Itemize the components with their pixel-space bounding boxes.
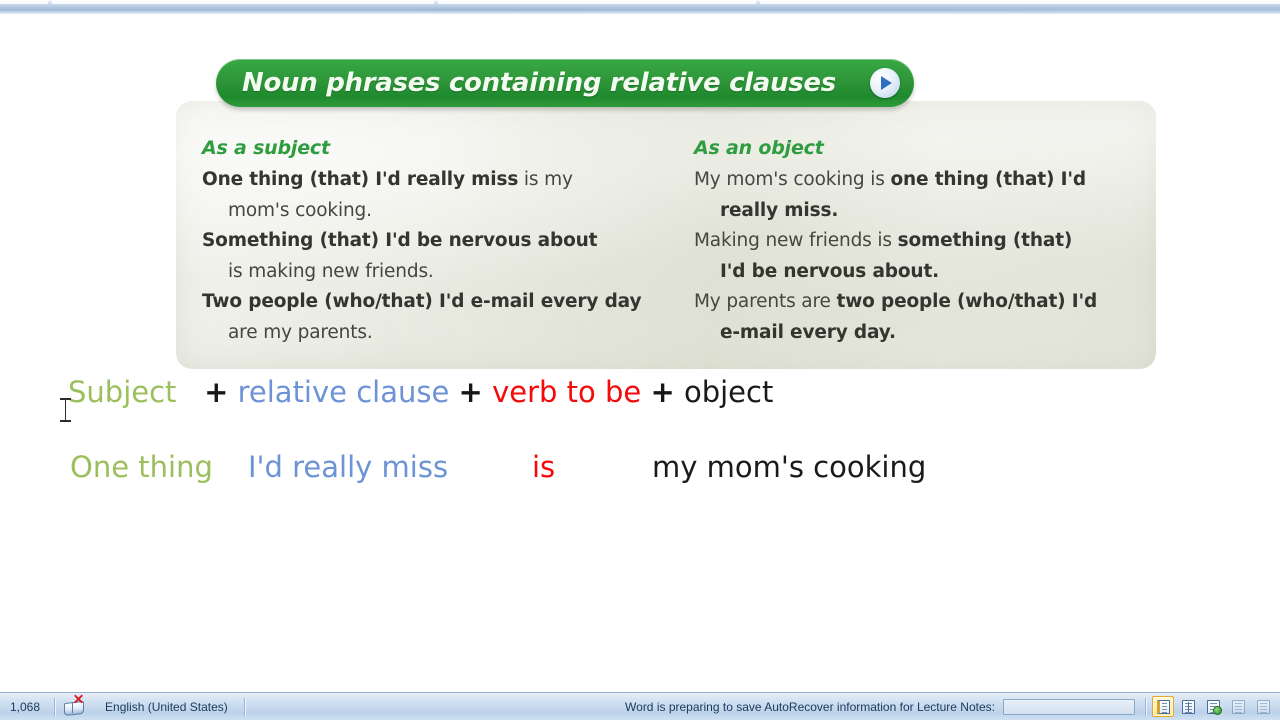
figure-line: Two people (who/that) I'd e-mail every d… [202,287,672,318]
book-spine-icon [72,701,73,712]
status-separator [1145,698,1146,716]
formula-line[interactable]: Subject + relative clause + verb to be +… [68,372,773,412]
figure-line-plain: My parents are [694,291,837,312]
print-layout-view-button[interactable] [1152,696,1174,717]
figure-line-bold: e-mail every day. [720,322,896,343]
formula-plus-3: + [650,375,674,409]
figure-line-bold: I'd be nervous about. [720,261,939,282]
figure-line: My mom's cooking is one thing (that) I'd [694,165,1156,196]
outline-view-button[interactable] [1227,696,1249,717]
print-layout-icon [1157,700,1170,714]
toolbar-strip [0,0,1280,14]
toolbar-seam [438,0,756,4]
play-triangle-icon [881,76,892,90]
status-separator [244,698,245,716]
web-layout-view-button[interactable] [1202,696,1224,717]
view-buttons-group [1148,696,1280,717]
formula-plus-1: + [204,375,228,409]
formula-subject: Subject [68,375,176,409]
autorecover-status-message: Word is preparing to save AutoRecover in… [625,700,1003,714]
toolbar-underline [0,9,1280,11]
figure-line: One thing (that) I'd really miss is my [202,165,672,196]
figure-line-bold: something (that) [898,230,1073,251]
figure-line: mom's cooking. [202,196,672,227]
document-canvas[interactable]: Noun phrases containing relative clauses… [0,14,1280,692]
figure-title-banner: Noun phrases containing relative clauses [216,59,914,107]
figure-line-bold: one thing (that) I'd [890,169,1086,190]
figure-line: is making new friends. [202,257,672,288]
figure-line: Something (that) I'd be nervous about [202,226,672,257]
figure-line: I'd be nervous about. [694,257,1156,288]
figure-column-subject: As a subject One thing (that) I'd really… [202,137,672,348]
toolbar-seam [0,0,48,4]
play-circle-icon [870,68,900,98]
figure-line-plain: mom's cooking. [228,200,372,221]
figure-line-plain: My mom's cooking is [694,169,890,190]
status-bar: 1,068 English (United States) Word is pr… [0,692,1280,720]
formula-plus-2: + [459,375,483,409]
full-screen-reading-view-button[interactable] [1177,696,1199,717]
figure-line: are my parents. [202,318,672,349]
figure-column-heading: As a subject [202,137,672,159]
figure-line-plain: are my parents. [228,322,373,343]
figure-line: My parents are two people (who/that) I'd [694,287,1156,318]
figure-line: Making new friends is something (that) [694,226,1156,257]
figure-line-bold: really miss. [720,200,838,221]
example-line[interactable]: One thing I'd really miss is my mom's co… [70,444,1170,490]
figure-column-object: As an object My mom's cooking is one thi… [694,137,1156,348]
figure-column-heading: As an object [694,137,1156,159]
outline-icon [1232,700,1245,714]
example-subject: One thing [70,444,213,490]
autorecover-progress-bar [1003,699,1135,715]
figure-line: e-mail every day. [694,318,1156,349]
formula-verb-to-be: verb to be [492,375,641,409]
formula-relative-clause: relative clause [238,375,450,409]
figure-line-plain: Making new friends is [694,230,898,251]
word-count[interactable]: 1,068 [0,700,52,714]
ibeam-bottom-bar [60,420,71,422]
full-screen-reading-icon [1182,700,1195,714]
textbook-figure-image[interactable]: Noun phrases containing relative clauses… [176,59,1156,369]
figure-line-bold: Something (that) I'd be nervous about [202,230,597,251]
draft-view-button[interactable] [1252,696,1274,717]
figure-line-bold: two people (who/that) I'd [837,291,1098,312]
figure-line-plain: is making new friends. [228,261,434,282]
example-verb-to-be: is [532,444,555,490]
draft-icon [1257,700,1270,714]
spelling-errors-book-icon[interactable] [61,697,87,717]
figure-line-plain: is my [518,169,573,190]
figure-line: really miss. [694,196,1156,227]
figure-line-bold: Two people (who/that) I'd e-mail every d… [202,291,641,312]
formula-object: object [684,375,773,409]
example-object: my mom's cooking [652,444,926,490]
figure-line-bold: One thing (that) I'd really miss [202,169,518,190]
toolbar-seam [760,0,1280,4]
figure-title: Noun phrases containing relative clauses [242,68,870,98]
example-relative-clause: I'd really miss [248,444,448,490]
green-globe-dot-icon [1213,706,1222,715]
status-separator [54,698,55,716]
language-indicator[interactable]: English (United States) [91,700,242,714]
text-ibeam-cursor [60,398,71,422]
web-layout-icon [1207,700,1220,714]
ibeam-stem [65,400,66,420]
toolbar-seam [52,0,434,4]
